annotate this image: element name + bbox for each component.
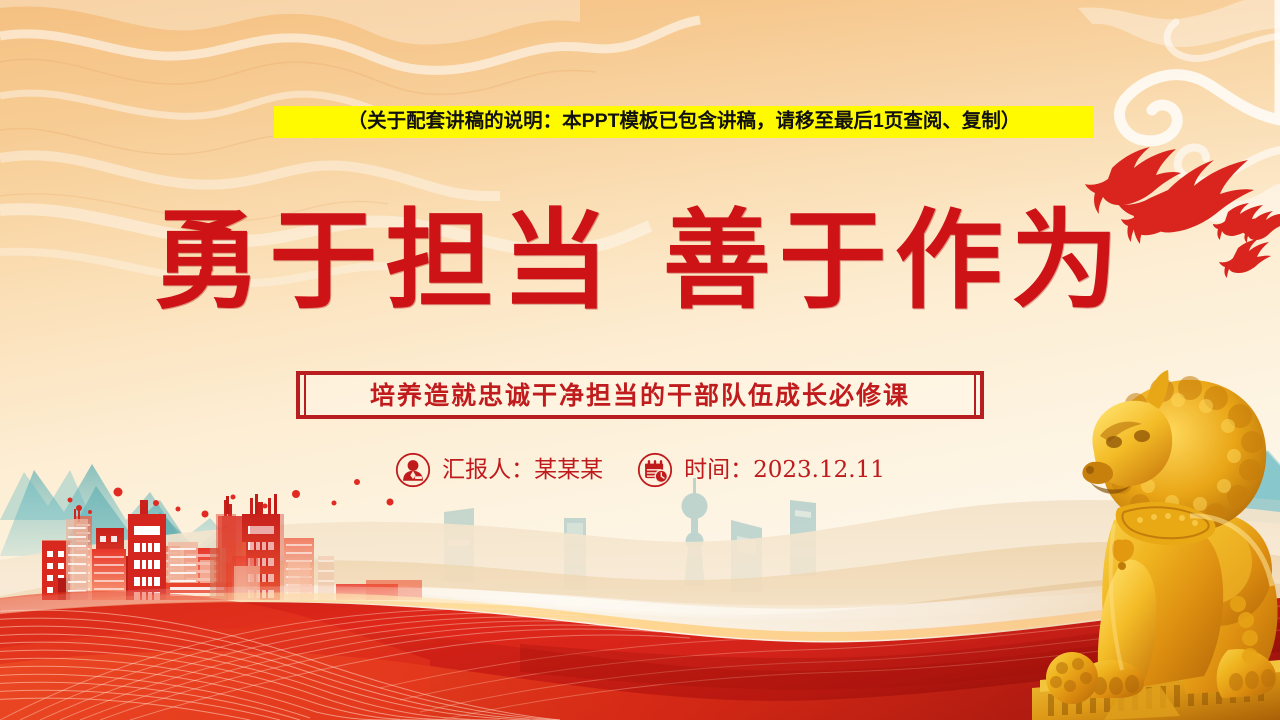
notice-banner: （关于配套讲稿的说明：本PPT模板已包含讲稿，请移至最后1页查阅、复制）: [274, 106, 1094, 138]
lion-figure: [1032, 370, 1280, 720]
presentation-slide: （关于配套讲稿的说明：本PPT模板已包含讲稿，请移至最后1页查阅、复制） 勇于担…: [0, 0, 1280, 720]
person-icon: [395, 452, 431, 488]
page-title-text: 勇于担当 善于作为: [153, 196, 1127, 328]
subtitle-frame: 培养造就忠诚干净担当的干部队伍成长必修课: [296, 371, 984, 419]
date-text: 时间：2023.12.11: [684, 459, 885, 482]
calendar-clock-icon: [637, 452, 673, 488]
page-title: 勇于担当 善于作为: [0, 196, 1280, 328]
notice-text: （关于配套讲稿的说明：本PPT模板已包含讲稿，请移至最后1页查阅、复制）: [348, 112, 1021, 132]
subtitle-text: 培养造就忠诚干净担当的干部队伍成长必修课: [370, 383, 910, 408]
date-item: 时间：2023.12.11: [637, 452, 885, 488]
meta-row: 汇报人：某某某 时间：2023.12.11: [0, 452, 1280, 488]
presenter-text: 汇报人：某某某: [442, 459, 603, 482]
presenter-item: 汇报人：某某某: [395, 452, 603, 488]
